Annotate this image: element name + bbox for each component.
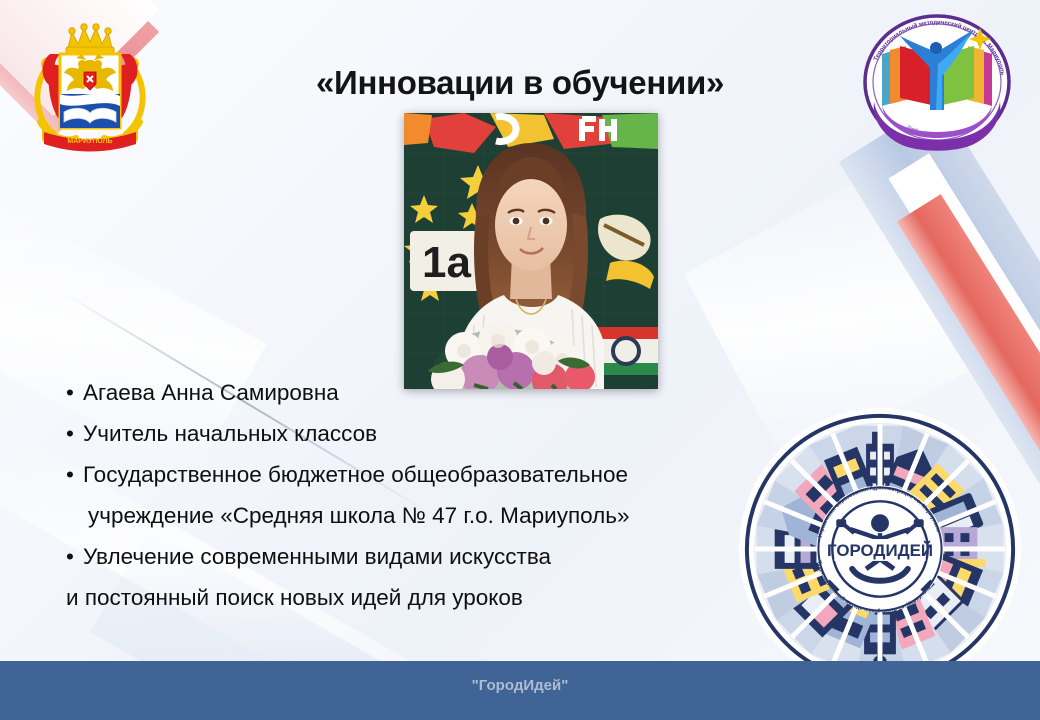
bullet-text: учреждение «Средняя школа № 47 г.о. Мари… — [88, 503, 630, 528]
wheel-center-text: ГОРОДИДЕЙ — [827, 541, 933, 560]
list-item: •Увлечение современными видами искусства — [66, 536, 746, 577]
teacher-photo: 1а — [404, 113, 658, 389]
svg-text:1а: 1а — [422, 238, 471, 287]
bullet-text: Агаева Анна Самировна — [83, 380, 339, 405]
bullet-marker: • — [66, 454, 83, 495]
page-title: «Инновации в обучении» — [0, 64, 1040, 102]
bullet-marker: • — [66, 372, 83, 413]
list-item: •Агаева Анна Самировна — [66, 372, 746, 413]
list-item-continuation: и постоянный поиск новых идей для уроков — [66, 577, 746, 618]
bullet-list: •Агаева Анна Самировна •Учитель начальны… — [66, 372, 746, 618]
coat-of-arms-caption: МАРИУПОЛЬ — [67, 138, 112, 145]
list-item: •Учитель начальных классов — [66, 413, 746, 454]
bullet-text: Государственное бюджетное общеобразовате… — [83, 462, 628, 487]
bullet-marker: • — [66, 536, 83, 577]
presentation-slide: МАРИУПОЛЬ Территориальный методический ц… — [0, 0, 1040, 720]
footer-text: "ГородИдей" — [0, 677, 1040, 694]
bullet-text: Увлечение современными видами искусства — [83, 544, 551, 569]
list-item: •Государственное бюджетное общеобразоват… — [66, 454, 746, 495]
bullet-text: Учитель начальных классов — [83, 421, 377, 446]
bullet-text: и постоянный поиск новых идей для уроков — [66, 585, 523, 610]
city-of-ideas-logo: Управление образования Администрации г.о… — [730, 400, 1030, 698]
bullet-marker: • — [66, 413, 83, 454]
footer-bar: "ГородИдей" — [0, 661, 1040, 720]
list-item-continuation: учреждение «Средняя школа № 47 г.о. Мари… — [66, 495, 746, 536]
